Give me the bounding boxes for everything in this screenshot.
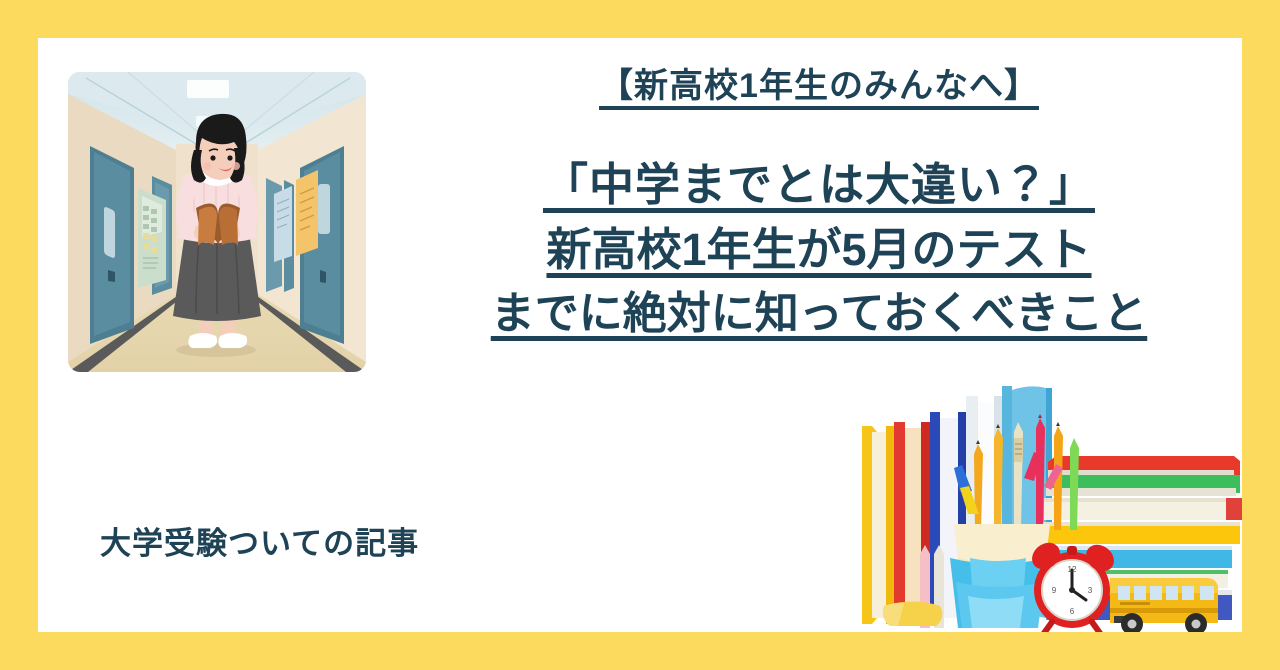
title-line-3: までに絶対に知っておくべきこと <box>396 282 1242 345</box>
school-corridor-illustration <box>68 72 366 372</box>
thumbnail-canvas: 123 69 <box>0 0 1280 670</box>
eyebrow-label: 【新高校1年生のみんなへ】 <box>396 64 1242 109</box>
svg-text:3: 3 <box>1088 586 1093 595</box>
headline-block: 【新高校1年生のみんなへ】 「中学までとは大違い？」 新高校1年生が5月のテスト… <box>396 64 1242 346</box>
svg-text:9: 9 <box>1052 586 1057 595</box>
category-caption: 大学受験ついての記事 <box>100 518 419 563</box>
svg-text:6: 6 <box>1070 607 1075 616</box>
school-supplies-photo: 123 69 <box>848 382 1242 632</box>
title-line-1: 「中学までとは大違い？」 <box>396 153 1242 218</box>
title-line-2: 新高校1年生が5月のテスト <box>396 218 1242 283</box>
page-title: 「中学までとは大違い？」 新高校1年生が5月のテスト までに絶対に知っておくべき… <box>396 153 1242 346</box>
svg-text:12: 12 <box>1068 565 1077 574</box>
